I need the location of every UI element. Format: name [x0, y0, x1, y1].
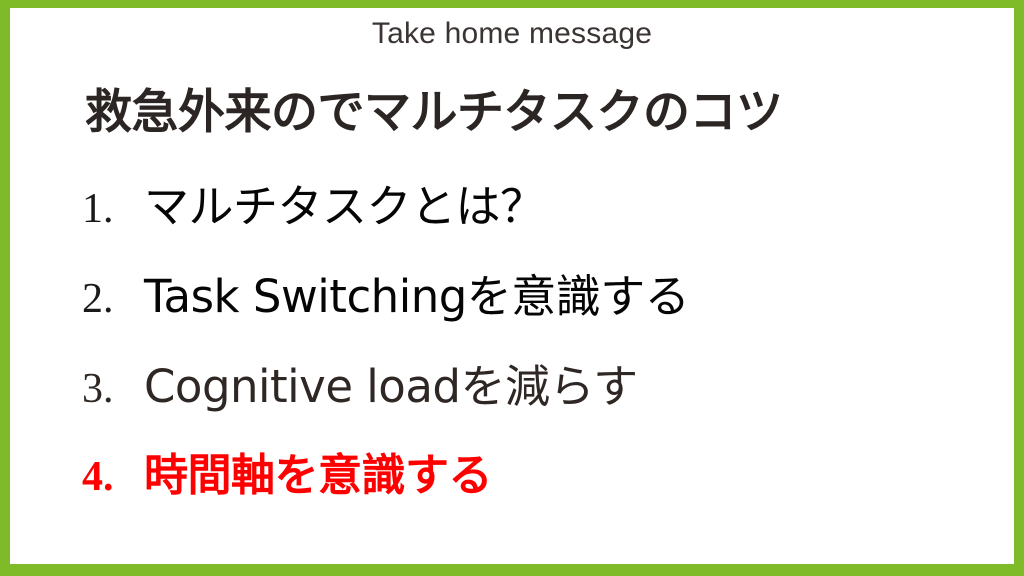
- list-item: 3. Cognitive loadを減らす: [10, 364, 1014, 454]
- list-item-number: 4.: [82, 456, 144, 498]
- list-item: 2. Task Switchingを意識する: [10, 274, 1014, 364]
- list-item-number: 3.: [82, 368, 144, 410]
- list-item: 4. 時間軸を意識する: [10, 454, 1014, 540]
- list-item-number: 2.: [82, 278, 144, 320]
- page-title: Take home message: [10, 17, 1014, 51]
- list-item-number: 1.: [82, 188, 144, 230]
- list-item-label: Cognitive loadを減らす: [144, 364, 638, 409]
- slide-frame: Take home message 救急外来のでマルチタスクのコツ 1. マルチ…: [0, 0, 1024, 576]
- list-item-label: マルチタスクとは？: [144, 184, 545, 229]
- list-item: 1. マルチタスクとは？: [10, 184, 1014, 274]
- numbered-list: 1. マルチタスクとは？ 2. Task Switchingを意識する 3. C…: [10, 184, 1014, 540]
- list-item-label: Task Switchingを意識する: [144, 274, 689, 319]
- list-item-label-highlighted: 時間軸を意識する: [144, 454, 492, 498]
- main-heading: 救急外来のでマルチタスクのコツ: [85, 88, 783, 137]
- slide-content-area: Take home message 救急外来のでマルチタスクのコツ 1. マルチ…: [10, 8, 1014, 564]
